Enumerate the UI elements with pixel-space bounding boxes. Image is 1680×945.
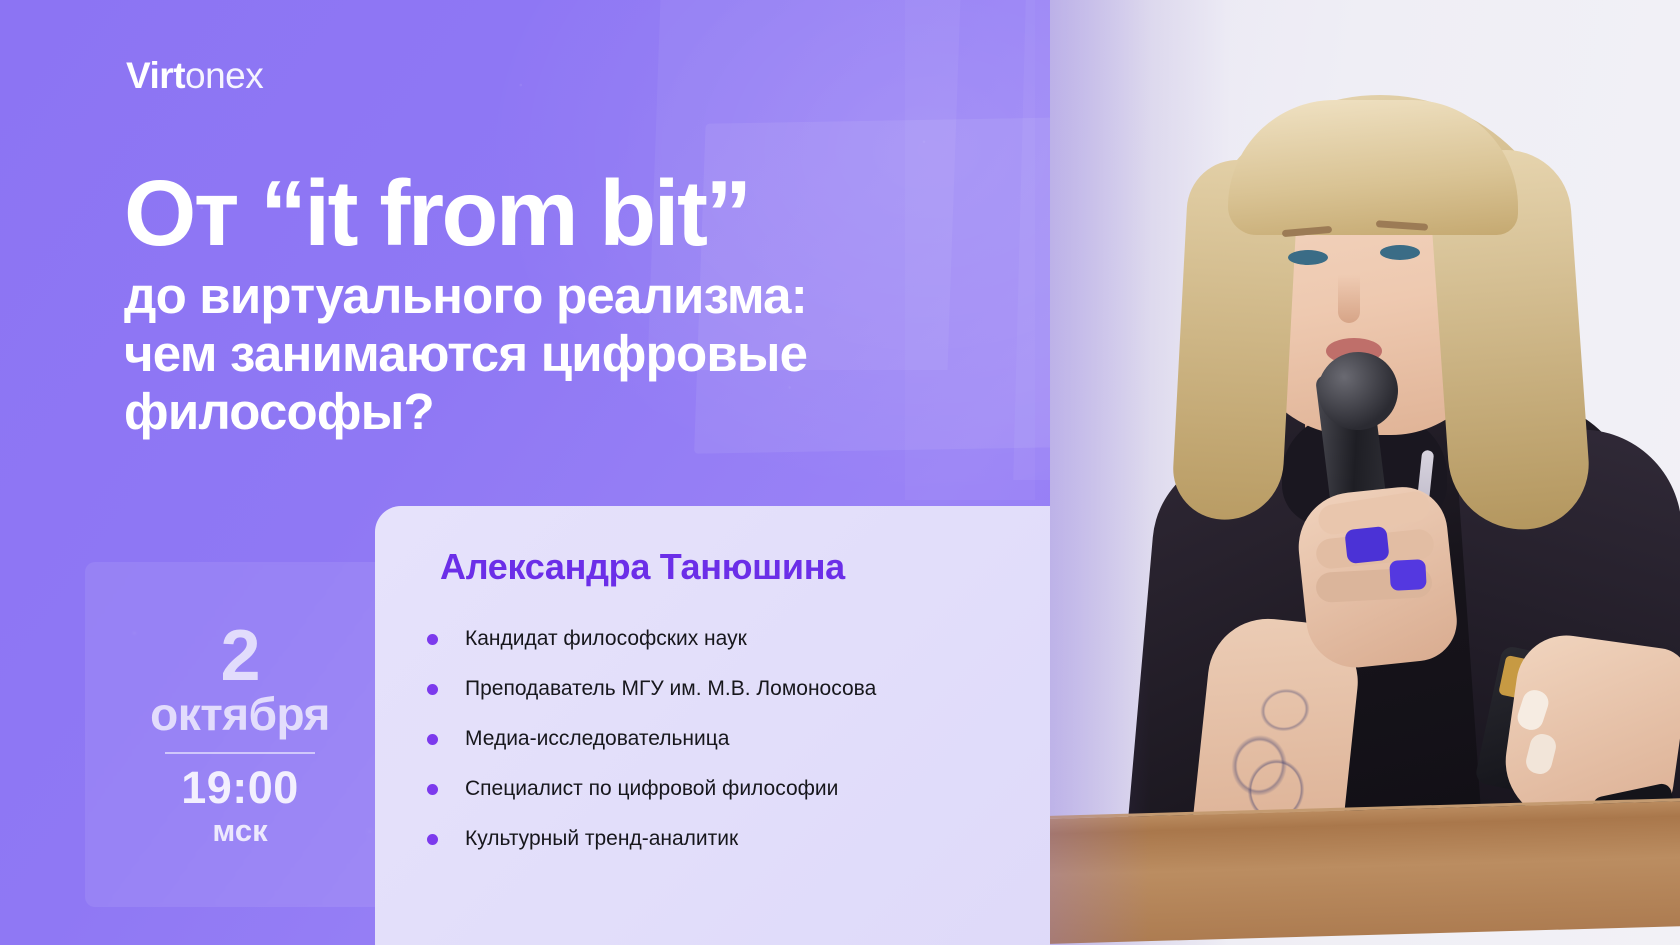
- date-divider: [165, 752, 315, 754]
- event-time: 19:00: [181, 765, 299, 810]
- event-day: 2: [220, 620, 259, 692]
- speaker-photo: [1050, 0, 1680, 945]
- logo-bold-part: Virt: [126, 57, 185, 94]
- speaker-credentials-list: Кандидат философских наук Преподаватель …: [427, 614, 876, 864]
- event-timezone: мск: [212, 812, 267, 849]
- logo-light-part: onex: [185, 57, 263, 94]
- credential-text: Специалист по цифровой философии: [465, 777, 838, 801]
- list-item: Специалист по цифровой философии: [427, 764, 876, 814]
- webinar-announcement-poster: Virtonex От “it from bit” до виртуальног…: [0, 0, 1680, 945]
- bullet-icon: [427, 734, 438, 745]
- bullet-icon: [427, 784, 438, 795]
- headline-line-2: до виртуального реализма:: [124, 267, 1124, 325]
- credential-text: Преподаватель МГУ им. М.В. Ломоносова: [465, 677, 876, 701]
- credential-text: Медиа-исследовательница: [465, 727, 729, 751]
- list-item: Медиа-исследовательница: [427, 714, 876, 764]
- event-month: октября: [150, 690, 330, 738]
- event-date-block: 2 октября 19:00 мск: [85, 562, 395, 907]
- credential-text: Культурный тренд-аналитик: [465, 827, 738, 851]
- speaker-card: Александра Танюшина Кандидат философских…: [375, 506, 1135, 945]
- bullet-icon: [427, 684, 438, 695]
- speaker-name: Александра Танюшина: [440, 546, 845, 588]
- headline-line-1: От “it from bit”: [124, 168, 1124, 259]
- headline-line-3: чем занимаются цифровые: [124, 325, 1124, 383]
- list-item: Культурный тренд-аналитик: [427, 814, 876, 864]
- photo-left-blend: [1050, 0, 1680, 945]
- bullet-icon: [427, 834, 438, 845]
- headline-line-4: философы?: [124, 383, 1124, 441]
- list-item: Кандидат философских наук: [427, 614, 876, 664]
- bullet-icon: [427, 634, 438, 645]
- page-title: От “it from bit” до виртуального реализм…: [124, 168, 1124, 442]
- credential-text: Кандидат философских наук: [465, 627, 747, 651]
- virtonex-logo: Virtonex: [126, 57, 263, 94]
- list-item: Преподаватель МГУ им. М.В. Ломоносова: [427, 664, 876, 714]
